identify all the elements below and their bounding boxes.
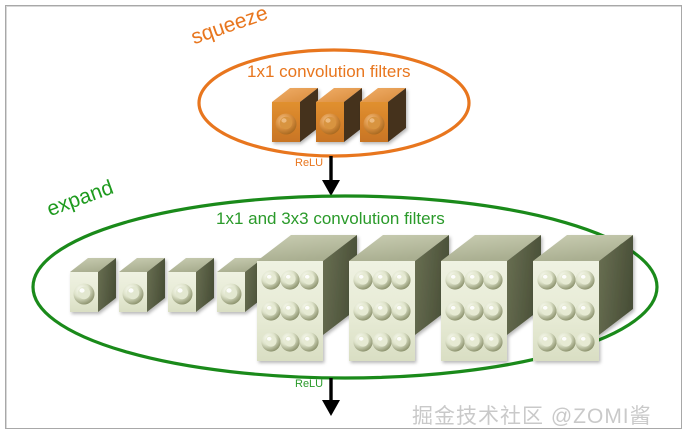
squeeze-filter-1 [272, 88, 318, 142]
relu-label-bottom: ReLU [295, 378, 323, 390]
squeeze-title: 1x1 convolution filters [247, 62, 410, 82]
squeeze-filter-3 [360, 88, 406, 142]
squeeze-filter-2 [316, 88, 362, 142]
expand-1x1-filter-2 [119, 258, 165, 312]
relu-label-top: ReLU [295, 157, 323, 169]
expand-title: 1x1 and 3x3 convolution filters [216, 209, 445, 229]
relu-arrow-bottom [322, 378, 340, 416]
expand-3x3-filter-3 [441, 235, 541, 361]
squeeze-filter-blocks [272, 88, 406, 142]
expand-1x1-filter-4 [217, 258, 263, 312]
expand-3x3-filter-2 [349, 235, 449, 361]
expand-3x3-filter-4 [533, 235, 633, 361]
expand-1x1-blocks [70, 258, 263, 312]
expand-group [33, 196, 657, 416]
expand-3x3-blocks [257, 235, 633, 361]
relu-arrow-top [322, 156, 340, 196]
expand-1x1-filter-1 [70, 258, 116, 312]
figure-canvas: squeeze 1x1 convolution filters ReLU exp… [0, 0, 690, 443]
expand-3x3-filter-1 [257, 235, 357, 361]
watermark-text: 掘金技术社区 @ZOMI酱 [412, 400, 652, 430]
expand-1x1-filter-3 [168, 258, 214, 312]
